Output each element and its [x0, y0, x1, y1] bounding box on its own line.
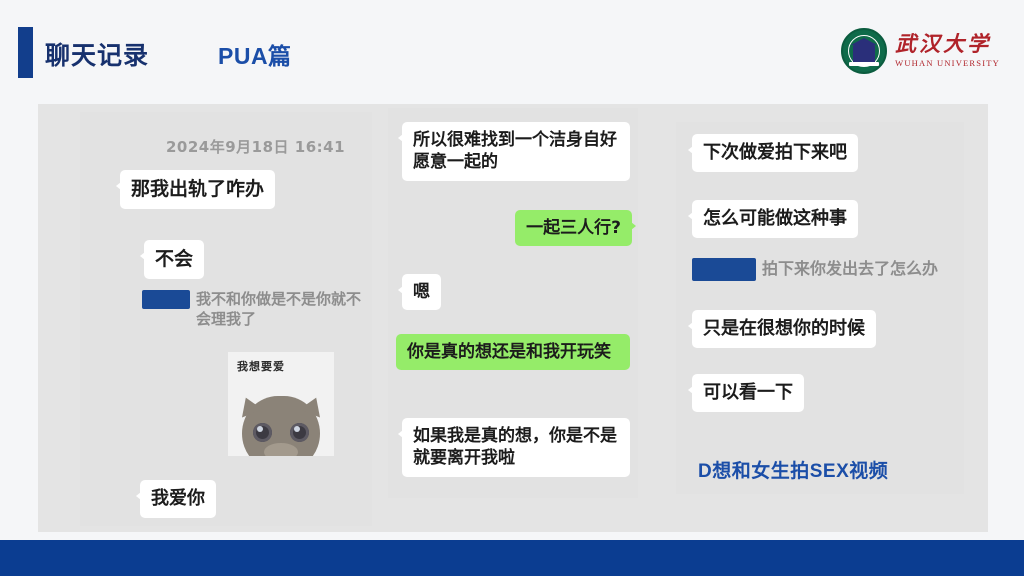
chat-sticker-image: 我想要爱	[228, 352, 334, 456]
logo-text-block: 武汉大学 WUHAN UNIVERSITY	[895, 34, 1000, 68]
cat-ear-left-icon	[236, 393, 263, 417]
redaction-box	[142, 290, 190, 309]
chat-row: 一起三人行?	[396, 210, 632, 246]
redaction-box	[692, 258, 756, 281]
sticker-caption: 我想要爱	[237, 358, 285, 374]
chat-row: 如果我是真的想，你是不是就要离开我啦	[402, 418, 630, 477]
chat-bubble: 怎么可能做这种事	[692, 200, 858, 238]
header-accent-bar	[18, 27, 33, 78]
chat-row: 你是真的想还是和我开玩笑	[396, 334, 630, 370]
chat-bubble: 那我出轨了咋办	[120, 170, 275, 209]
logo-name-cn: 武汉大学	[895, 34, 1000, 55]
cat-eye-right-icon	[290, 423, 309, 442]
cat-eye-left-icon	[253, 423, 272, 442]
chat-row: 下次做爱拍下来吧	[692, 134, 858, 172]
chat-bubble: 我爱你	[140, 480, 216, 518]
chat-screenshot-middle: 所以很难找到一个洁身自好愿意一起的 一起三人行? 嗯 你是真的想还是和我开玩笑 …	[388, 108, 638, 498]
page-title: 聊天记录	[45, 36, 149, 72]
chat-row-redacted: 我不和你做是不是你就不会理我了	[142, 290, 366, 329]
chat-row: 所以很难找到一个洁身自好愿意一起的	[402, 122, 630, 181]
wuhan-university-logo: 武汉大学 WUHAN UNIVERSITY	[841, 25, 1000, 77]
chat-row-redacted: 拍下来你发出去了怎么办	[692, 258, 938, 281]
chat-row: 嗯	[402, 274, 441, 310]
slide-header: 聊天记录 PUA篇 武汉大学 WUHAN UNIVERSITY	[0, 0, 1024, 100]
column-caption: D想和女生拍SEX视频	[698, 456, 888, 483]
page-subtitle: PUA篇	[218, 37, 292, 71]
chat-bubble: 所以很难找到一个洁身自好愿意一起的	[402, 122, 630, 181]
emblem-building-icon	[853, 44, 875, 63]
chat-bubble: 不会	[144, 240, 204, 279]
chat-row: 怎么可能做这种事	[692, 200, 858, 238]
emblem-base	[849, 62, 879, 66]
chat-row: 只是在很想你的时候	[692, 310, 876, 348]
chat-row: 我爱你	[140, 480, 216, 518]
university-emblem-icon	[841, 28, 887, 74]
chat-message-faded: 我不和你做是不是你就不会理我了	[196, 290, 366, 329]
chat-row: 不会	[144, 240, 204, 279]
chat-row: 可以看一下	[692, 374, 804, 412]
cat-meme-icon	[242, 396, 320, 456]
chat-bubble: 只是在很想你的时候	[692, 310, 876, 348]
chat-bubble: 可以看一下	[692, 374, 804, 412]
chat-row: 那我出轨了咋办	[120, 170, 275, 209]
chat-bubble-green: 一起三人行?	[515, 210, 632, 246]
chat-bubble-green: 你是真的想还是和我开玩笑	[396, 334, 630, 370]
chat-bubble: 嗯	[402, 274, 441, 310]
chat-screenshot-left: 2024年9月18日 16:41 那我出轨了咋办 不会 我不和你做是不是你就不会…	[80, 112, 372, 526]
cat-ear-right-icon	[300, 393, 327, 417]
cat-muzzle-icon	[264, 443, 298, 456]
content-panel: 2024年9月18日 16:41 那我出轨了咋办 不会 我不和你做是不是你就不会…	[38, 104, 988, 532]
slide-footer	[0, 540, 1024, 576]
chat-timestamp: 2024年9月18日 16:41	[166, 136, 345, 157]
chat-message-faded: 拍下来你发出去了怎么办	[762, 259, 938, 280]
logo-name-en: WUHAN UNIVERSITY	[895, 59, 1000, 68]
chat-bubble: 下次做爱拍下来吧	[692, 134, 858, 172]
chat-screenshot-right: 下次做爱拍下来吧 怎么可能做这种事 拍下来你发出去了怎么办 只是在很想你的时候 …	[676, 122, 964, 494]
chat-bubble: 如果我是真的想，你是不是就要离开我啦	[402, 418, 630, 477]
